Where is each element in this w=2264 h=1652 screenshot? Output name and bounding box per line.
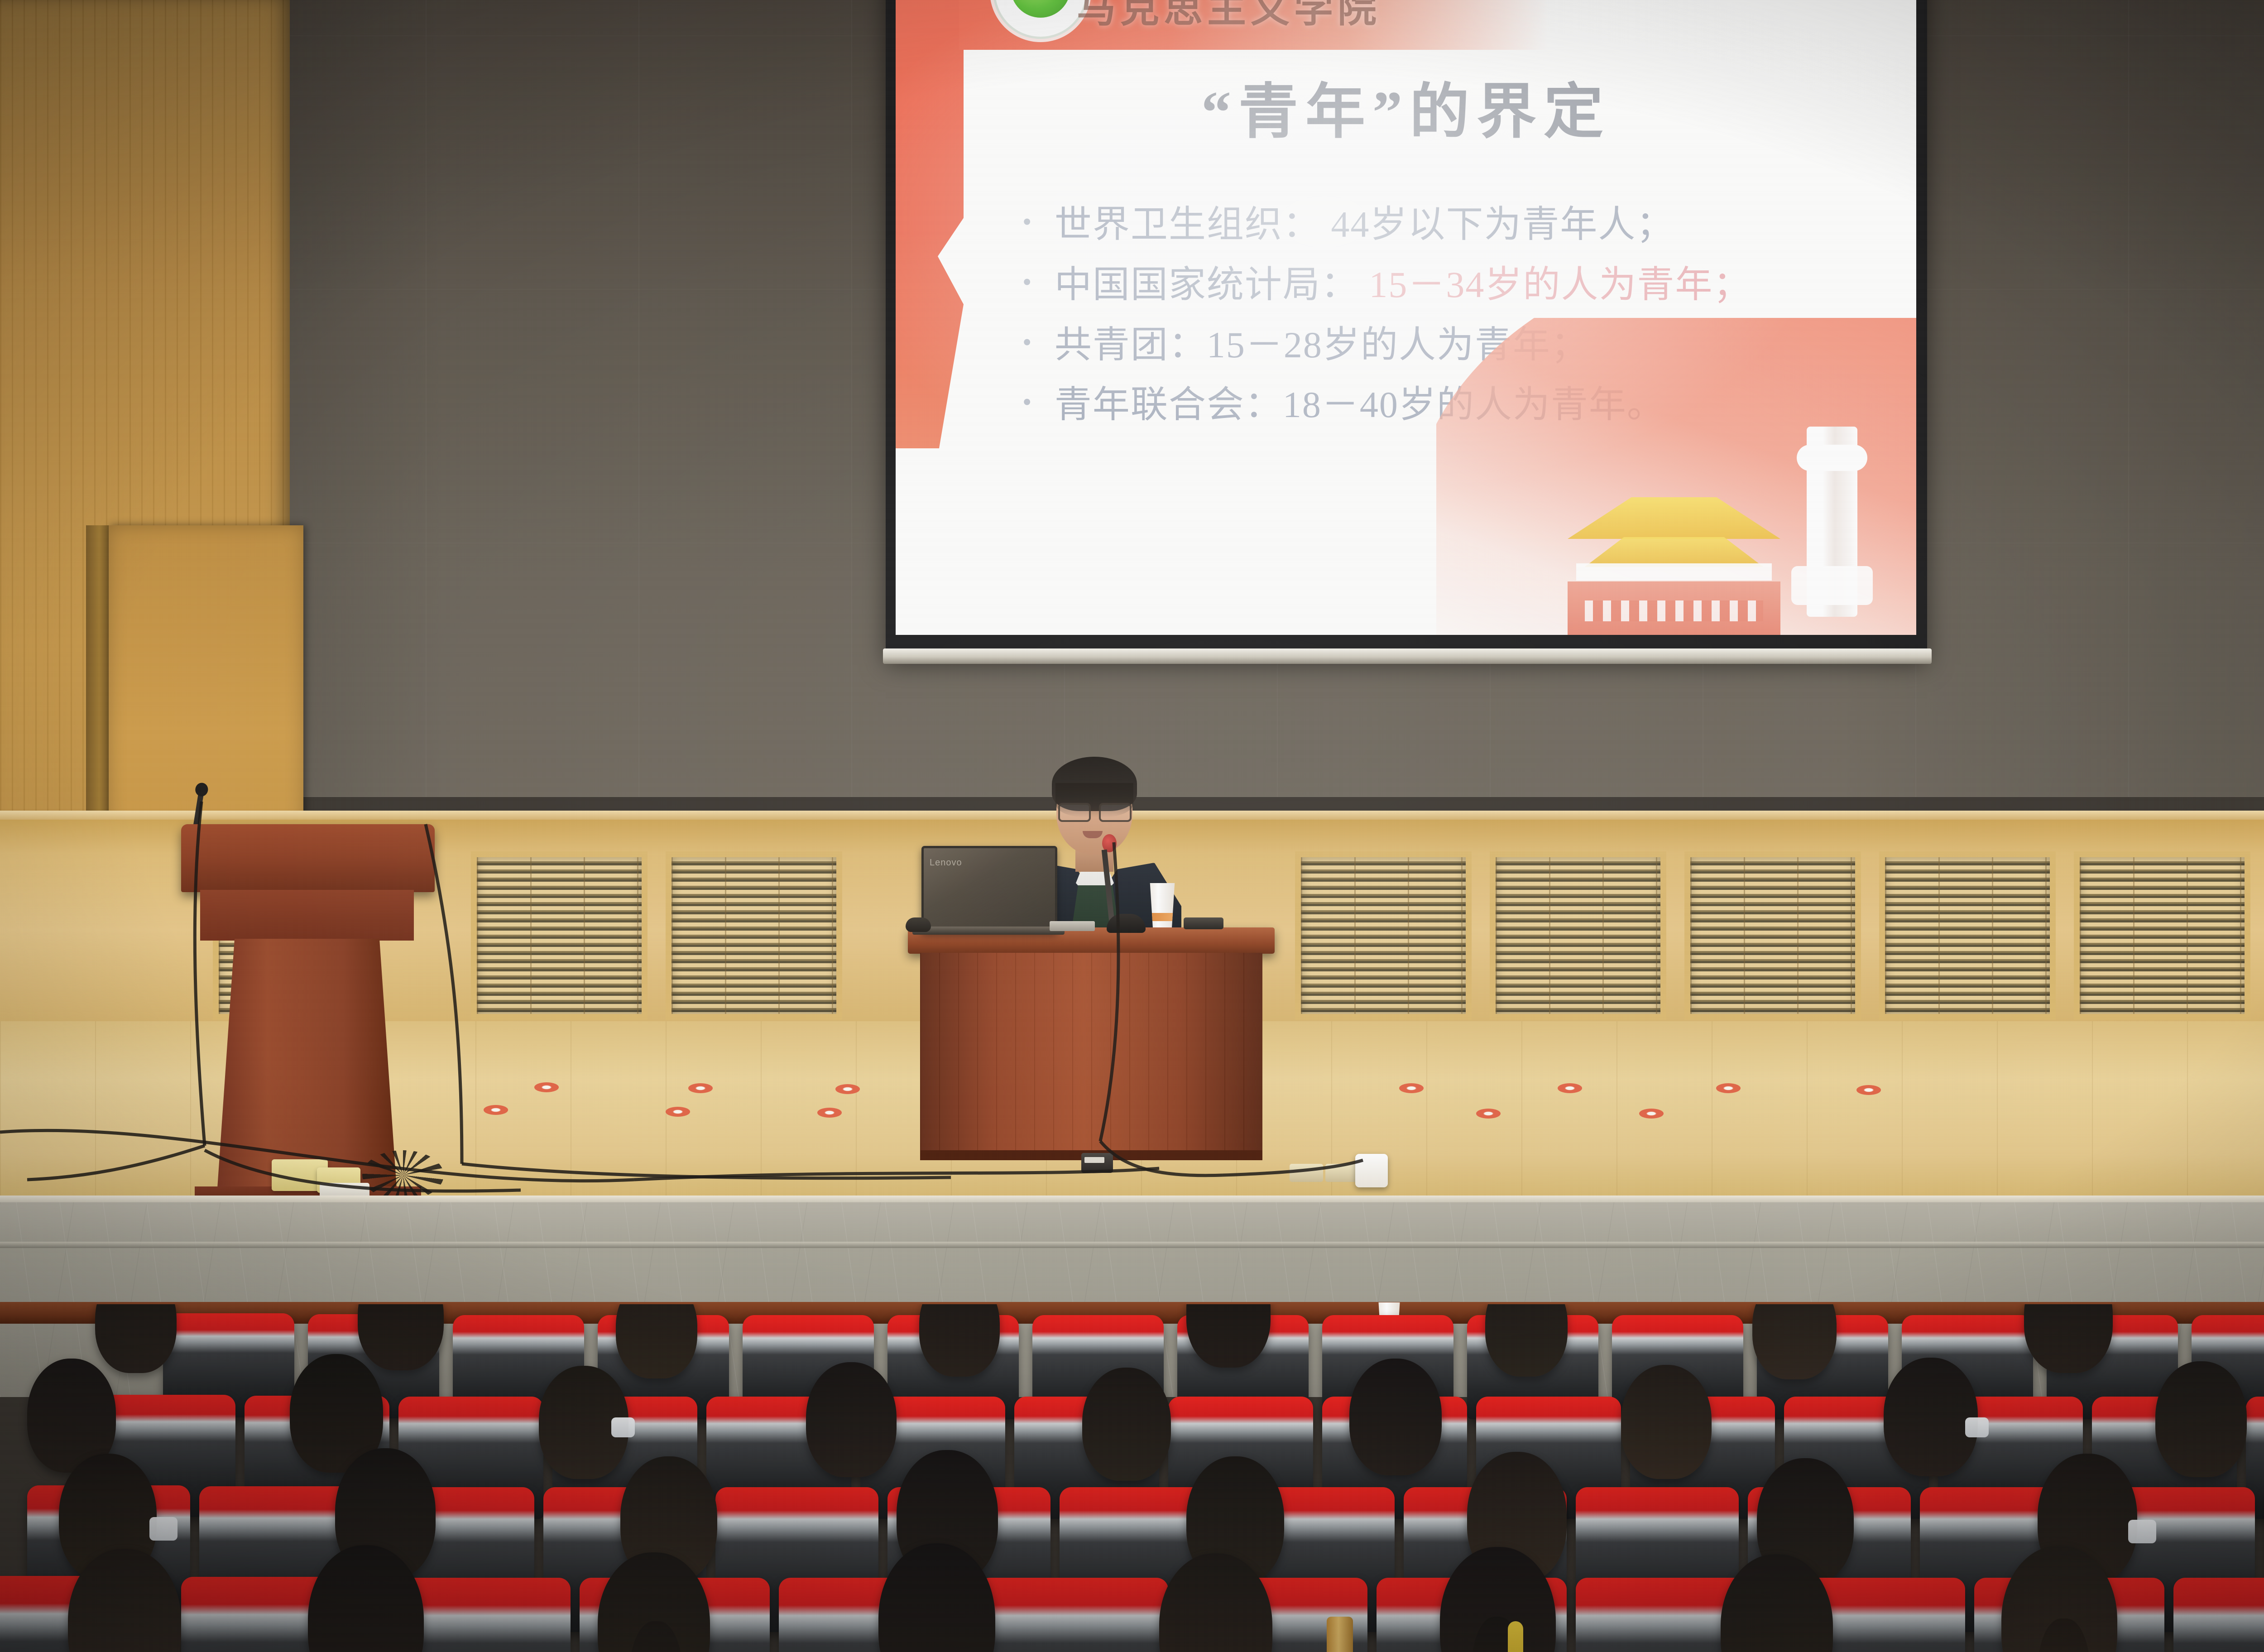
gate-lower-roof: [1585, 537, 1764, 567]
auditorium-seat[interactable]: [2173, 1578, 2264, 1652]
slide-bullet-item: 中国国家统计局： 15－34岁的人为青年；: [1022, 255, 1862, 315]
huabiao-column-icon: [1807, 427, 1857, 617]
lecture-hall-photo: 马克思主义学院 “青年”的界定 世界卫生组织： 44岁以下为青年人； 中国国家统…: [0, 0, 2264, 1652]
gate-base: [1568, 581, 1780, 635]
screen-weight-bar: [883, 648, 1932, 664]
audience-head: [2155, 1361, 2247, 1477]
stage-front-moulding: [0, 1242, 2264, 1248]
slide-school-name: 马克思主义学院: [1077, 0, 1381, 33]
audience-head: [1082, 1368, 1171, 1481]
slide-artwork-tiananmen: [1436, 318, 1916, 635]
gate-white-band: [1576, 563, 1772, 581]
yellow-bag-strap: [1508, 1621, 1523, 1652]
face-mask-icon: [2128, 1520, 2156, 1543]
audience-head: [1884, 1358, 1978, 1476]
bullet-text: 世界卫生组织： 44岁以下为青年人；: [1055, 204, 1674, 245]
face-mask-icon: [611, 1417, 635, 1437]
bullet-highlight: 15－34岁的人为青年；: [1369, 264, 1751, 305]
audience-head: [616, 1304, 697, 1378]
audience-head: [919, 1304, 1000, 1377]
emblem-wheat-shape: [1016, 0, 1065, 15]
audience-head: [1349, 1359, 1442, 1475]
gate-upper-roof: [1568, 497, 1780, 539]
slide-title: “青年”的界定: [896, 63, 1916, 150]
face-mask-icon: [149, 1517, 177, 1541]
bullet-text: 中国国家统计局：: [1055, 264, 1359, 305]
tiananmen-gate-icon: [1568, 490, 1780, 635]
thermos-bottle: [1327, 1617, 1353, 1652]
audience-head: [1621, 1365, 1712, 1479]
auditorium-seat[interactable]: [978, 1578, 1168, 1652]
projection-screen: 马克思主义学院 “青年”的界定 世界卫生组织： 44岁以下为青年人； 中国国家统…: [896, 0, 1916, 635]
audience-head: [1752, 1304, 1837, 1379]
audience-head: [806, 1362, 897, 1477]
slide-bullet-item: 世界卫生组织： 44岁以下为青年人；: [1022, 195, 1862, 255]
stage-cables: [0, 770, 2264, 1223]
audience-seating: [0, 1304, 2264, 1652]
audience-head: [95, 1304, 177, 1373]
audience-head: [1485, 1304, 1568, 1377]
face-mask-icon: [1965, 1417, 1989, 1437]
